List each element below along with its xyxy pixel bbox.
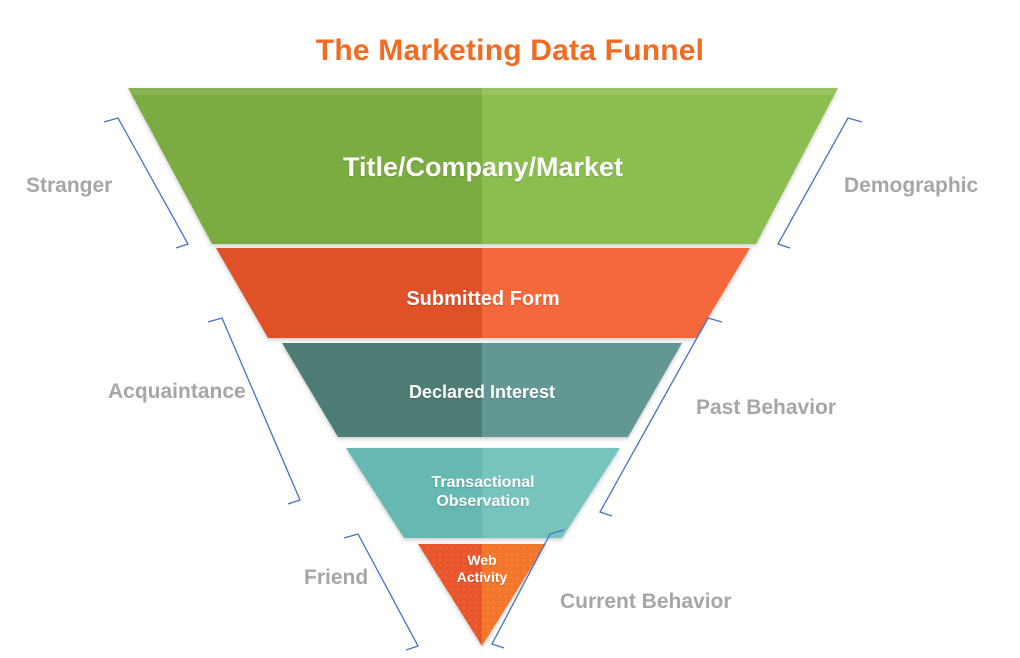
band-2-left-half	[216, 248, 482, 338]
band-1-left-half	[128, 88, 482, 244]
annotation-left-acquaintance: Acquaintance	[108, 380, 246, 404]
funnel-band-transactional-observation[interactable]	[346, 448, 620, 538]
band-1-right-half	[482, 88, 838, 244]
band-4-right-half	[482, 448, 620, 538]
band-3-right-half	[482, 343, 682, 437]
band-2-right-half	[482, 248, 750, 338]
annotation-left-friend: Friend	[304, 566, 368, 590]
annotation-right-past-behavior: Past Behavior	[696, 396, 836, 420]
band-1-top-highlight	[128, 88, 838, 95]
annotation-right-current-behavior: Current Behavior	[560, 590, 732, 614]
funnel-band-submitted-form[interactable]	[216, 248, 750, 338]
band-3-left-half	[282, 343, 482, 437]
bracket-left-friend	[344, 534, 418, 650]
annotation-right-demographic: Demographic	[844, 174, 978, 198]
annotation-left-stranger: Stranger	[26, 174, 112, 198]
funnel-band-web-activity[interactable]	[418, 544, 546, 646]
funnel-graphic	[0, 0, 1020, 658]
funnel-diagram: The Marketing Data Funnel	[0, 0, 1020, 658]
funnel-band-declared-interest[interactable]	[282, 343, 682, 437]
band-5-texture	[418, 544, 546, 646]
band-4-left-half	[346, 448, 482, 538]
funnel-band-title-company-market[interactable]	[128, 88, 838, 244]
